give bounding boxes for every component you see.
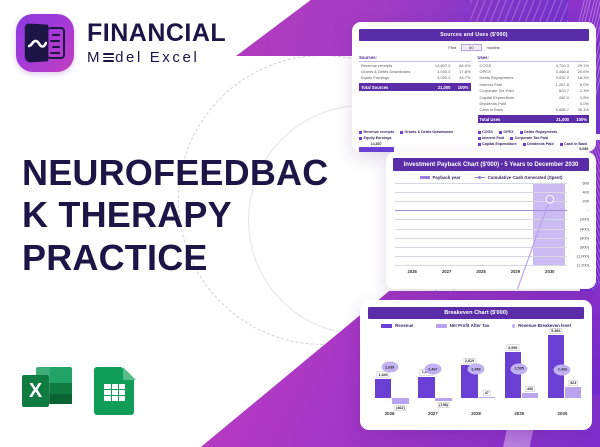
bar-value-label: 47	[483, 390, 491, 397]
legend-item-npat: Net Profit After Tax	[436, 323, 490, 328]
uses-column-header: Uses:	[478, 55, 590, 62]
breakeven-bar-groups: 1,640(462)2,6391,848(198)2,4972,819472,4…	[368, 330, 584, 406]
sources-column: Sources: Revenue receipts14,807.068.9%Gr…	[359, 55, 471, 123]
table-row: Interest Paid1,267.88.0%	[478, 81, 590, 87]
period-prefix-label: First	[448, 45, 456, 50]
brand-title: FINANCIAL	[87, 21, 226, 46]
sources-column-header: Sources:	[359, 55, 471, 62]
legend-item-cumulative-cash: Cumulative Cash Generated (Spent)	[475, 175, 563, 180]
legend-swatch-npat	[436, 324, 447, 328]
brand-logo-block: FINANCIAL M del Excel	[16, 14, 226, 72]
total-uses-label: Total Uses	[478, 117, 542, 122]
y-tick-label: (1,000)	[577, 253, 589, 258]
table-row: COGS4,720.329.1%	[478, 62, 590, 68]
legend-label-npat: Net Profit After Tax	[450, 323, 490, 328]
bar: 14,807	[359, 147, 394, 152]
bar-value-label: 3,959	[506, 344, 519, 351]
legend-item: Grants & Debts Drawdowns	[400, 130, 453, 134]
y-tick-label: 200	[583, 199, 590, 204]
page-title-line-3: PRACTICE	[22, 237, 312, 279]
period-suffix-label: months	[487, 45, 500, 50]
uses-rows: COGS4,720.329.1%OPEX3,468.820.6%Debts Re…	[478, 62, 590, 113]
breakeven-marker: 2,497	[424, 364, 441, 375]
financial-model-excel-logo-icon	[16, 14, 74, 72]
bar-group: 1,640(462)2,639	[368, 330, 411, 406]
legend-swatch-revenue	[381, 324, 392, 328]
payback-plot-area: 600400200-(200)(400)(600)(800)(1,000)(1,…	[395, 183, 567, 265]
brand-subtitle: M del Excel	[87, 50, 226, 65]
legend-item-payback-year: Payback year	[420, 175, 461, 180]
bar-group: 5,3669232,433	[541, 330, 584, 406]
sources-rows: Revenue receipts14,807.068.9%Grants & De…	[359, 62, 471, 81]
y-tick-label: (400)	[580, 226, 589, 231]
breakeven-marker: 2,505	[511, 363, 528, 374]
table-row: Grants & Debts Drawdowns3,000.017.8%	[359, 68, 471, 74]
page-title-line-1: NEUROFEEDBAC	[22, 152, 312, 194]
uses-column: Uses: COGS4,720.329.1%OPEX3,468.820.6%De…	[478, 55, 590, 123]
logo-wave-icon	[28, 38, 47, 49]
page-title: NEUROFEEDBAC K THERAPY PRACTICE	[22, 152, 312, 279]
table-row: Dividends Paid-0.0%	[478, 100, 590, 106]
logo-list-panel	[47, 27, 65, 59]
y-tick-label: 400	[583, 190, 590, 195]
google-sheets-icon[interactable]	[94, 365, 136, 417]
sources-uses-title: Sources and Uses ($'000)	[359, 29, 589, 41]
bar-value-label: (462)	[394, 405, 407, 412]
legend-item: Revenue receipts	[359, 130, 394, 134]
breakeven-plot-area: 1,640(462)2,6391,848(198)2,4972,819472,4…	[368, 330, 584, 406]
sources-chart-legend: Revenue receiptsGrants & Debts Drawdowns…	[359, 130, 471, 140]
brand-subtitle-o-glyph	[103, 52, 114, 63]
legend-item: OPEX	[499, 130, 514, 134]
bar-value-label: 5,689	[579, 147, 588, 151]
payback-line-series	[395, 183, 567, 289]
y-tick-label: (200)	[580, 217, 589, 222]
table-row: Corporate Tax Paid603.72.3%	[478, 88, 590, 94]
period-value-input[interactable]: 60	[461, 44, 481, 51]
legend-label-revenue: Revenue	[395, 323, 413, 328]
total-sources-row: Total Sources 21,000 100%	[359, 83, 471, 91]
legend-label-payback-year: Payback year	[433, 175, 461, 180]
total-uses-pct: 100%	[569, 117, 589, 122]
legend-item: Debts Repayments	[520, 130, 558, 134]
sheets-icon-fold	[123, 367, 136, 380]
breakeven-marker: 2,433	[554, 364, 571, 375]
payback-y-axis-labels: 600400200-(200)(400)(600)(800)(1,000)(1,…	[567, 183, 589, 265]
investment-payback-card[interactable]: Investment Payback Chart ($'000) - 5 Yea…	[386, 152, 596, 289]
breakeven-marker: 2,459	[468, 364, 485, 375]
y-tick-label: 600	[583, 181, 590, 186]
brand-subtitle-suffix: del Excel	[115, 50, 199, 65]
microsoft-excel-icon[interactable]: X	[22, 365, 72, 417]
legend-swatch-bar	[420, 176, 430, 180]
bar-value-label: 406	[525, 386, 535, 393]
bar-group: 2,819472,459	[454, 330, 497, 406]
bar-group: 1,848(198)2,497	[411, 330, 454, 406]
table-row: Debts Repayments3,092.218.3%	[478, 75, 590, 81]
sources-uses-period-selector[interactable]: First 60 months	[359, 44, 589, 51]
breakeven-chart-card[interactable]: Breakeven Chart ($'000) Revenue Net Prof…	[360, 300, 592, 430]
bar-group: 3,9594062,505	[498, 330, 541, 406]
brand-subtitle-prefix: M	[87, 50, 102, 65]
bar-value-label: (198)	[437, 402, 450, 409]
payback-chart-title: Investment Payback Chart ($'000) - 5 Yea…	[393, 158, 589, 171]
file-format-icons: X	[22, 365, 136, 417]
legend-item: Corporate Tax Paid	[510, 136, 548, 140]
legend-swatch-breakeven	[512, 324, 516, 328]
bar: 3,959	[505, 352, 521, 398]
total-uses-row: Total Uses 21,000 100%	[478, 115, 590, 123]
legend-item: COGS	[478, 130, 493, 134]
bar-value-label: 5,366	[549, 328, 562, 335]
total-sources-pct: 100%	[451, 85, 471, 90]
bar: (198)	[435, 398, 451, 400]
sheets-icon-grid	[104, 383, 125, 401]
payback-chart-legend: Payback year Cumulative Cash Generated (…	[393, 175, 589, 180]
y-tick-label: -	[588, 208, 589, 213]
legend-item: Interest Paid	[478, 136, 505, 140]
y-tick-label: (600)	[580, 235, 589, 240]
table-row: Equity Earnings3,000.028.7%	[359, 75, 471, 81]
sources-and-uses-card[interactable]: Sources and Uses ($'000) First 60 months…	[352, 22, 596, 152]
table-row: Revenue receipts14,807.068.9%	[359, 62, 471, 68]
total-sources-amount: 21,000	[423, 85, 451, 90]
total-sources-label: Total Sources	[359, 85, 423, 90]
y-tick-label: (800)	[580, 244, 589, 249]
sources-bar-chart: 14,8073,0003,000	[359, 140, 471, 152]
bar: 47	[479, 397, 495, 398]
page-title-line-2: K THERAPY	[22, 194, 312, 236]
bar: 406	[522, 393, 538, 398]
table-row: Capital Expenditure282.01.8%	[478, 94, 590, 100]
legend-item-revenue: Revenue	[381, 323, 413, 328]
total-uses-amount: 21,000	[541, 117, 569, 122]
table-row: Cash in Bank5,688.730.1%	[478, 107, 590, 113]
table-row: OPEX3,468.820.6%	[478, 68, 590, 74]
bar: 1,848	[418, 377, 434, 399]
bar: 923	[565, 387, 581, 398]
legend-label-breakeven: Revenue Breakeven level	[518, 323, 571, 328]
y-tick-label: (1,200)	[577, 263, 589, 268]
bar: 1,640	[375, 379, 391, 398]
legend-swatch-line	[475, 177, 485, 178]
breakeven-chart-title: Breakeven Chart ($'000)	[368, 307, 584, 319]
bar: (462)	[392, 398, 408, 403]
bar-value-label: 14,807	[371, 142, 382, 146]
uses-chart-legend: COGSOPEXDebts RepaymentsInterest PaidCor…	[478, 130, 590, 146]
legend-label-cumulative-cash: Cumulative Cash Generated (Spent)	[488, 175, 563, 180]
excel-icon-letter: X	[22, 375, 49, 407]
bar-value-label: 923	[568, 380, 578, 387]
breakeven-marker: 2,639	[381, 362, 398, 373]
